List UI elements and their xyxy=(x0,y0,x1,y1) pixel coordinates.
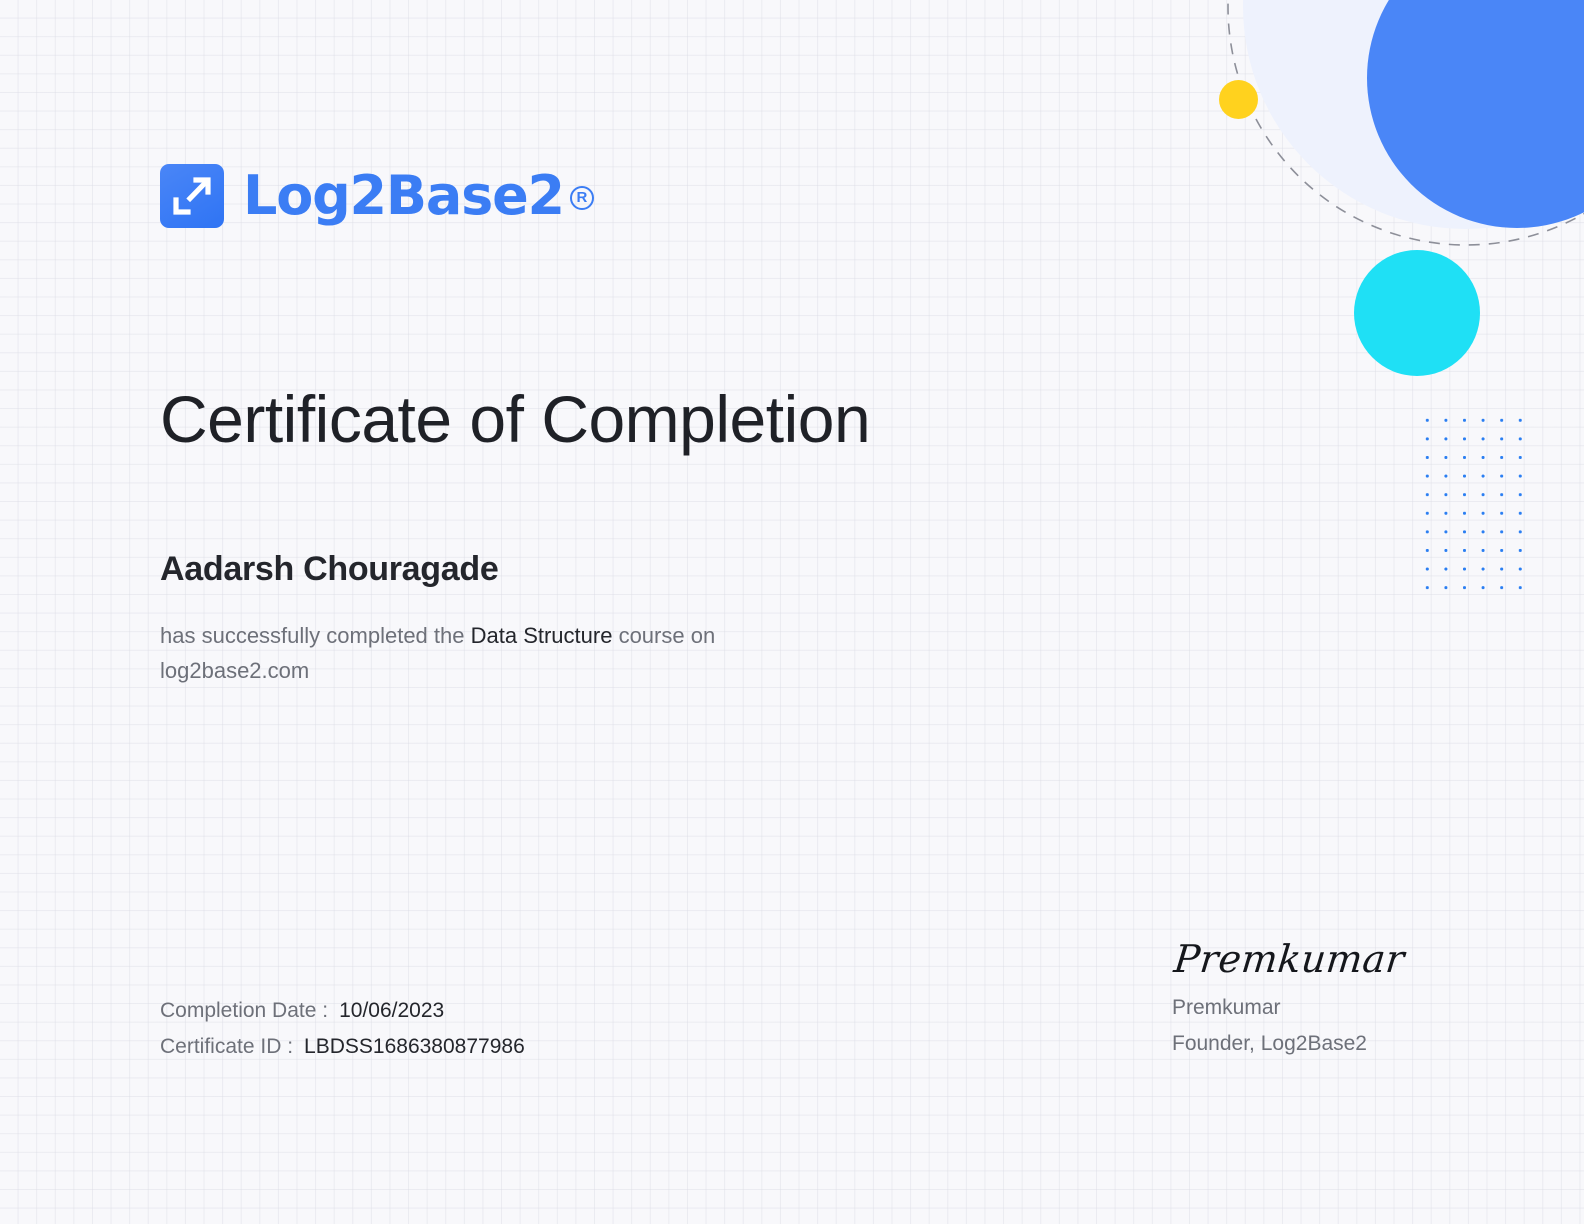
certificate-id-value: LBDSS1686380877986 xyxy=(304,1029,525,1065)
signatory-name: Premkumar xyxy=(1172,990,1402,1026)
halo-circle-decoration xyxy=(1243,0,1584,229)
signatory-role: Founder, Log2Base2 xyxy=(1172,1026,1402,1062)
completion-date-label: Completion Date : xyxy=(160,993,328,1029)
signature-image: Premkumar xyxy=(1172,940,1406,980)
completion-date-value: 10/06/2023 xyxy=(339,993,444,1029)
certificate-canvas: Log2Base2 R Certificate of Completion Aa… xyxy=(0,0,1584,1224)
cyan-circle-decoration xyxy=(1354,250,1480,376)
expand-arrow-icon xyxy=(160,164,224,228)
blue-circle-decoration xyxy=(1367,0,1584,228)
completion-statement: has successfully completed the Data Stru… xyxy=(160,619,780,689)
recipient-name: Aadarsh Chouragade xyxy=(160,551,498,588)
dashed-arc-decoration xyxy=(1227,0,1584,246)
completion-prefix: has successfully completed the xyxy=(160,623,471,648)
page-title: Certificate of Completion xyxy=(160,385,870,454)
signature-script-wrapper: Premkumar xyxy=(1172,940,1402,990)
brand-logo: Log2Base2 R xyxy=(160,164,594,228)
certificate-id-row: Certificate ID : LBDSS1686380877986 xyxy=(160,1029,525,1065)
brand-name-text: Log2Base2 xyxy=(243,169,564,223)
certificate-id-label: Certificate ID : xyxy=(160,1029,293,1065)
signature-block: Premkumar Premkumar Founder, Log2Base2 xyxy=(1172,940,1402,1062)
certificate-metadata: Completion Date : 10/06/2023 Certificate… xyxy=(160,993,525,1065)
completion-date-row: Completion Date : 10/06/2023 xyxy=(160,993,525,1029)
yellow-circle-decoration xyxy=(1219,80,1258,119)
registered-trademark-icon: R xyxy=(570,186,594,210)
course-name: Data Structure xyxy=(471,623,613,648)
dot-grid-decoration xyxy=(1416,409,1534,599)
brand-wordmark: Log2Base2 R xyxy=(243,169,594,223)
